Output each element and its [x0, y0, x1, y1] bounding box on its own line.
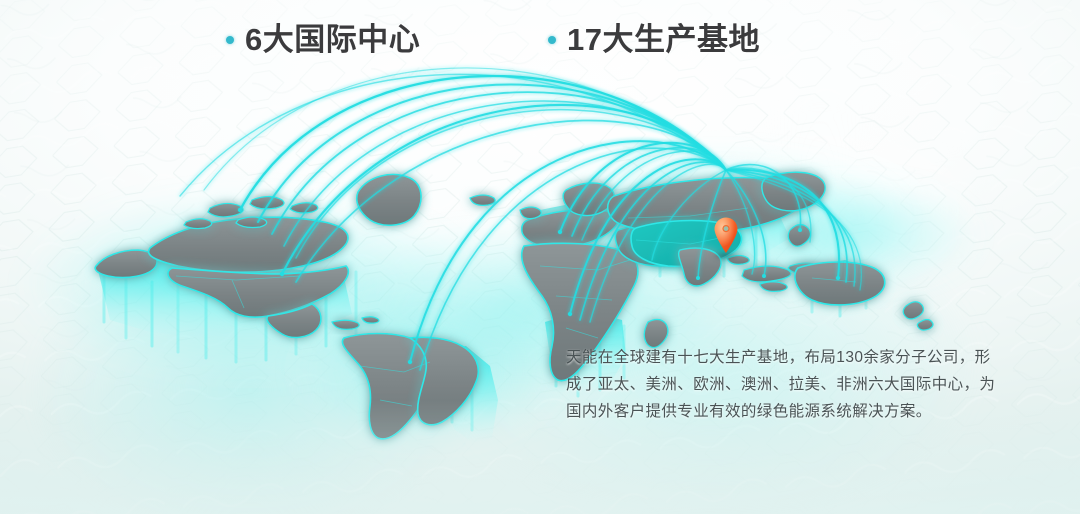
paragraph-line: 国内外客户提供专业有效的绿色能源系统解决方案。 — [566, 398, 1018, 425]
description-paragraph: 天能在全球建有十七大生产基地，布局130余家分子公司，形 成了亚太、美洲、欧洲、… — [566, 344, 1018, 425]
paragraph-line: 天能在全球建有十七大生产基地，布局130余家分子公司，形 — [566, 344, 1018, 371]
headline-international-centers: 6大国际中心 — [226, 18, 420, 62]
headline-row: 6大国际中心 17大生产基地 — [0, 18, 1080, 70]
map-pin-icon[interactable] — [713, 216, 739, 254]
slide-canvas: 6大国际中心 17大生产基地 天能在全球建有十七大生产基地，布局130余家分子公… — [0, 0, 1080, 514]
paragraph-line: 成了亚太、美洲、欧洲、澳洲、拉美、非洲六大国际中心，为 — [566, 371, 1018, 398]
bullet-dot-icon — [548, 36, 556, 44]
headline-one-label: 6大国际中心 — [245, 18, 420, 62]
headline-production-bases: 17大生产基地 — [548, 18, 760, 62]
headline-two-label: 17大生产基地 — [567, 18, 760, 62]
bullet-dot-icon — [226, 36, 234, 44]
